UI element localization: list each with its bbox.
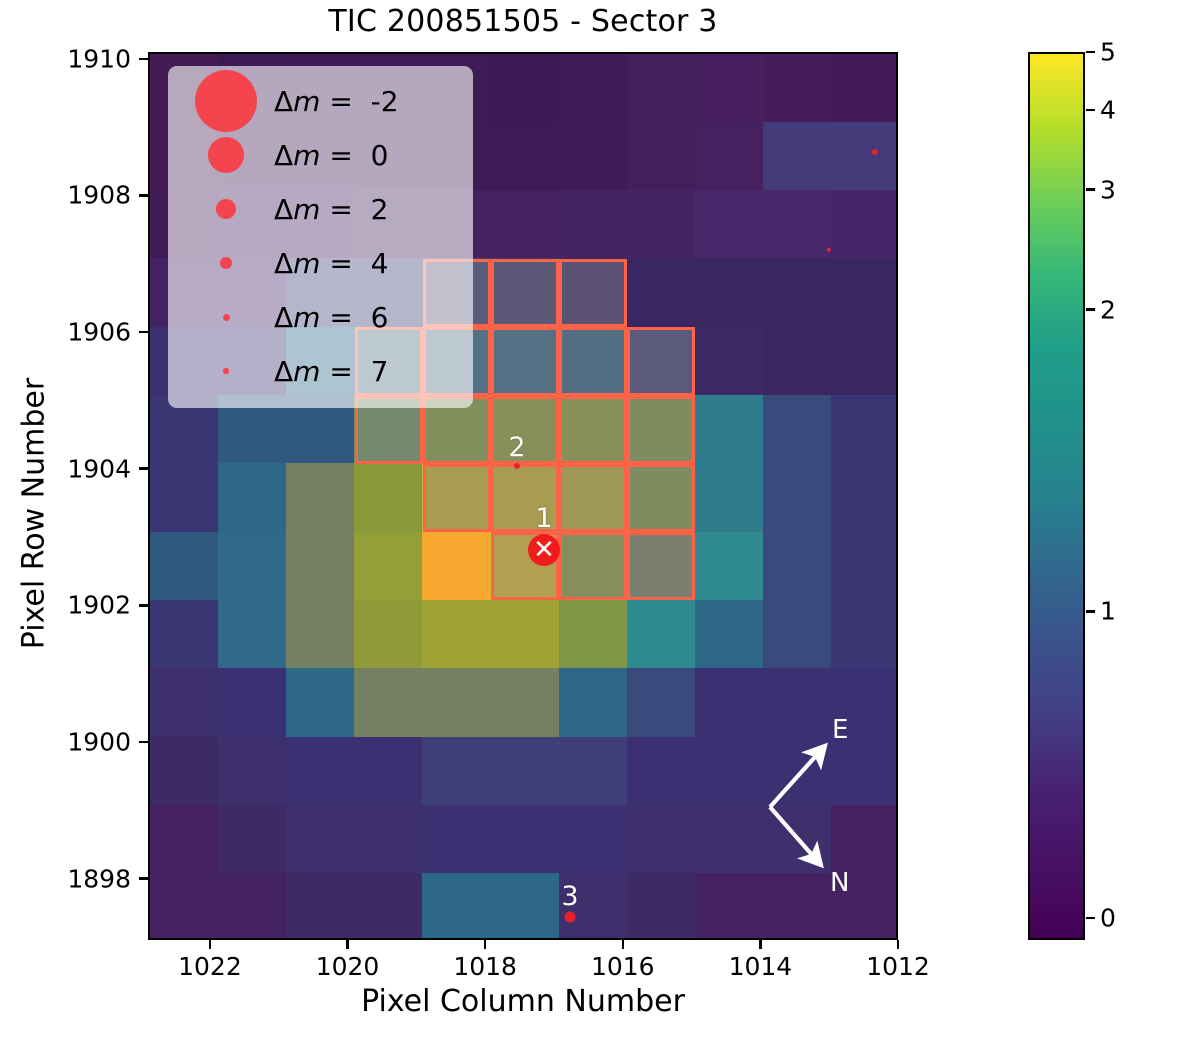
flux-pixel bbox=[763, 258, 832, 327]
flux-pixel bbox=[422, 463, 491, 532]
flux-pixel bbox=[218, 873, 287, 940]
x-tick bbox=[622, 940, 625, 949]
legend-marker-0 bbox=[178, 70, 274, 132]
flux-pixel bbox=[763, 463, 832, 532]
flux-pixel bbox=[763, 327, 832, 396]
flux-pixel bbox=[354, 463, 423, 532]
flux-pixel bbox=[763, 532, 832, 601]
legend-marker-2 bbox=[178, 199, 274, 219]
colorbar-tick bbox=[1086, 610, 1095, 613]
legend-label-1: Δm = 0 bbox=[274, 139, 388, 172]
colorbar-tick bbox=[1086, 188, 1095, 191]
flux-pixel bbox=[218, 600, 287, 669]
x-tick bbox=[346, 940, 349, 949]
flux-pixel bbox=[286, 668, 355, 737]
flux-pixel bbox=[354, 737, 423, 806]
y-tick-label: 1904 bbox=[67, 454, 131, 483]
colorbar-tick bbox=[1086, 51, 1095, 54]
flux-pixel bbox=[218, 463, 287, 532]
flux-pixel bbox=[763, 122, 832, 191]
flux-pixel bbox=[763, 600, 832, 669]
flux-pixel bbox=[286, 600, 355, 669]
flux-pixel bbox=[627, 395, 696, 464]
flux-pixel bbox=[559, 54, 628, 123]
flux-pixel bbox=[559, 532, 628, 601]
flux-pixel bbox=[422, 805, 491, 874]
flux-pixel bbox=[627, 805, 696, 874]
flux-pixel bbox=[831, 805, 898, 874]
flux-pixel bbox=[422, 600, 491, 669]
flux-pixel bbox=[831, 190, 898, 259]
flux-pixel bbox=[286, 463, 355, 532]
flux-pixel bbox=[695, 668, 764, 737]
flux-pixel bbox=[831, 122, 898, 191]
star-marker-3 bbox=[565, 912, 576, 923]
colorbar-tick-label: 1 bbox=[1100, 597, 1116, 626]
flux-pixel bbox=[286, 532, 355, 601]
flux-pixel bbox=[354, 873, 423, 940]
flux-pixel bbox=[831, 600, 898, 669]
flux-pixel bbox=[559, 395, 628, 464]
flux-pixel bbox=[490, 190, 559, 259]
flux-pixel bbox=[150, 600, 219, 669]
flux-pixel bbox=[627, 54, 696, 123]
legend-label-3: Δm = 4 bbox=[274, 247, 388, 280]
x-tick-label: 1018 bbox=[453, 952, 517, 981]
x-tick-label: 1012 bbox=[866, 952, 930, 981]
flux-pixel bbox=[354, 600, 423, 669]
star-label-3: 3 bbox=[561, 883, 578, 910]
flux-pixel bbox=[218, 805, 287, 874]
flux-pixel bbox=[150, 873, 219, 940]
legend-dot-icon bbox=[220, 257, 232, 269]
flux-pixel bbox=[763, 54, 832, 123]
flux-pixel bbox=[490, 327, 559, 396]
flux-pixel bbox=[763, 668, 832, 737]
flux-pixel bbox=[286, 873, 355, 940]
flux-pixel bbox=[150, 463, 219, 532]
y-tick-label: 1908 bbox=[67, 181, 131, 210]
y-tick-label: 1898 bbox=[67, 864, 131, 893]
flux-pixel bbox=[627, 258, 696, 327]
y-tick bbox=[139, 604, 148, 607]
colorbar-tick bbox=[1086, 308, 1095, 311]
flux-pixel bbox=[490, 805, 559, 874]
flux-pixel bbox=[695, 122, 764, 191]
flux-pixel bbox=[831, 54, 898, 123]
y-tick-label: 1910 bbox=[67, 44, 131, 73]
legend-label-0: Δm = -2 bbox=[274, 85, 399, 118]
flux-pixel bbox=[627, 737, 696, 806]
y-tick-label: 1906 bbox=[67, 318, 131, 347]
flux-pixel bbox=[831, 395, 898, 464]
flux-pixel bbox=[831, 327, 898, 396]
legend-dot-icon bbox=[223, 314, 230, 321]
colorbar-tick bbox=[1086, 917, 1095, 920]
flux-pixel bbox=[695, 463, 764, 532]
x-tick bbox=[759, 940, 762, 949]
flux-pixel bbox=[831, 258, 898, 327]
flux-pixel bbox=[490, 54, 559, 123]
colorbar-tick-label: 3 bbox=[1100, 175, 1116, 204]
legend-dot-icon bbox=[208, 137, 244, 173]
flux-pixel bbox=[559, 737, 628, 806]
flux-pixel bbox=[695, 258, 764, 327]
flux-pixel bbox=[559, 190, 628, 259]
flux-pixel bbox=[422, 668, 491, 737]
page-title: TIC 200851505 - Sector 3 bbox=[148, 4, 898, 39]
flux-pixel bbox=[490, 668, 559, 737]
legend-marker-4 bbox=[178, 314, 274, 321]
flux-pixel bbox=[150, 532, 219, 601]
x-tick bbox=[897, 940, 900, 949]
flux-pixel bbox=[627, 463, 696, 532]
x-axis-label: Pixel Column Number bbox=[148, 984, 898, 1019]
y-tick bbox=[139, 741, 148, 744]
x-tick-label: 1016 bbox=[591, 952, 655, 981]
flux-pixel bbox=[695, 805, 764, 874]
pixel-image-plot[interactable]: ✕123 E N Δm = -2Δm = 0Δm = 2Δm = 4Δm = 6… bbox=[148, 52, 898, 940]
flux-pixel bbox=[559, 327, 628, 396]
flux-pixel bbox=[831, 532, 898, 601]
legend-marker-5 bbox=[178, 368, 274, 373]
flux-pixel bbox=[763, 737, 832, 806]
star-label-2: 2 bbox=[508, 434, 525, 461]
flux-pixel bbox=[286, 737, 355, 806]
legend-row-4: Δm = 6 bbox=[178, 290, 463, 344]
flux-pixel bbox=[286, 805, 355, 874]
flux-pixel bbox=[559, 122, 628, 191]
figure-canvas: TIC 200851505 - Sector 3 ✕123 E N Δm = -… bbox=[0, 0, 1200, 1041]
legend-row-3: Δm = 4 bbox=[178, 236, 463, 290]
magnitude-legend: Δm = -2Δm = 0Δm = 2Δm = 4Δm = 6Δm = 7 bbox=[168, 66, 473, 408]
flux-pixel bbox=[490, 737, 559, 806]
flux-pixel bbox=[490, 258, 559, 327]
flux-pixel bbox=[422, 737, 491, 806]
flux-pixel bbox=[218, 532, 287, 601]
colorbar-tick-label: 5 bbox=[1100, 38, 1116, 67]
star-label-1: 1 bbox=[535, 505, 552, 532]
flux-pixel bbox=[150, 805, 219, 874]
flux-pixel bbox=[490, 873, 559, 940]
flux-pixel bbox=[150, 737, 219, 806]
flux-pixel bbox=[218, 737, 287, 806]
target-x-icon: ✕ bbox=[533, 537, 555, 563]
flux-pixel bbox=[422, 873, 491, 940]
legend-row-5: Δm = 7 bbox=[178, 344, 463, 398]
colorbar-tick bbox=[1086, 109, 1095, 112]
flux-pixel bbox=[627, 532, 696, 601]
y-tick bbox=[139, 877, 148, 880]
flux-pixel bbox=[695, 327, 764, 396]
y-axis-label: Pixel Row Number bbox=[17, 304, 52, 724]
x-tick-label: 1022 bbox=[178, 952, 242, 981]
flux-pixel bbox=[831, 873, 898, 940]
flux-pixel bbox=[695, 54, 764, 123]
legend-row-0: Δm = -2 bbox=[178, 74, 463, 128]
flux-pixel bbox=[559, 463, 628, 532]
flux-pixel bbox=[763, 873, 832, 940]
flux-pixel bbox=[627, 327, 696, 396]
flux-pixel bbox=[695, 873, 764, 940]
legend-dot-icon bbox=[223, 368, 228, 373]
legend-label-4: Δm = 6 bbox=[274, 301, 388, 334]
colorbar-tick-label: 4 bbox=[1100, 95, 1116, 124]
flux-pixel bbox=[559, 805, 628, 874]
flux-pixel bbox=[831, 737, 898, 806]
flux-pixel bbox=[763, 190, 832, 259]
flux-pixel bbox=[695, 532, 764, 601]
flux-pixel bbox=[422, 532, 491, 601]
flux-pixel bbox=[490, 122, 559, 191]
y-tick-label: 1902 bbox=[67, 591, 131, 620]
flux-pixel bbox=[354, 805, 423, 874]
x-tick-label: 1020 bbox=[316, 952, 380, 981]
legend-dot-icon bbox=[195, 70, 257, 132]
legend-dot-icon bbox=[216, 199, 236, 219]
y-tick bbox=[139, 58, 148, 61]
flux-pixel bbox=[354, 532, 423, 601]
star-marker-2 bbox=[514, 463, 520, 469]
legend-row-1: Δm = 0 bbox=[178, 128, 463, 182]
flux-pixel bbox=[559, 668, 628, 737]
flux-pixel bbox=[695, 395, 764, 464]
colorbar-tick-label: 2 bbox=[1100, 295, 1116, 324]
flux-pixel bbox=[218, 668, 287, 737]
legend-row-2: Δm = 2 bbox=[178, 182, 463, 236]
colorbar-tick-label: 0 bbox=[1100, 903, 1116, 932]
flux-pixel bbox=[559, 600, 628, 669]
flux-pixel bbox=[695, 600, 764, 669]
flux-pixel bbox=[490, 600, 559, 669]
y-tick bbox=[139, 331, 148, 334]
legend-label-2: Δm = 2 bbox=[274, 193, 388, 226]
y-tick bbox=[139, 467, 148, 470]
flux-pixel bbox=[763, 805, 832, 874]
flux-pixel bbox=[627, 873, 696, 940]
flux-pixel bbox=[627, 600, 696, 669]
flux-pixel bbox=[627, 122, 696, 191]
star-marker-4 bbox=[872, 149, 878, 155]
flux-pixel bbox=[354, 668, 423, 737]
flux-pixel bbox=[150, 668, 219, 737]
flux-pixel bbox=[763, 395, 832, 464]
legend-marker-3 bbox=[178, 257, 274, 269]
x-tick bbox=[209, 940, 212, 949]
x-tick bbox=[484, 940, 487, 949]
flux-pixel bbox=[831, 668, 898, 737]
legend-label-5: Δm = 7 bbox=[274, 355, 388, 388]
flux-pixel bbox=[627, 668, 696, 737]
flux-pixel bbox=[695, 190, 764, 259]
flux-pixel bbox=[559, 258, 628, 327]
colorbar bbox=[1028, 52, 1085, 940]
legend-marker-1 bbox=[178, 137, 274, 173]
y-tick-label: 1900 bbox=[67, 727, 131, 756]
flux-pixel bbox=[695, 737, 764, 806]
x-tick-label: 1014 bbox=[729, 952, 793, 981]
flux-pixel bbox=[831, 463, 898, 532]
flux-pixel bbox=[627, 190, 696, 259]
y-tick bbox=[139, 194, 148, 197]
